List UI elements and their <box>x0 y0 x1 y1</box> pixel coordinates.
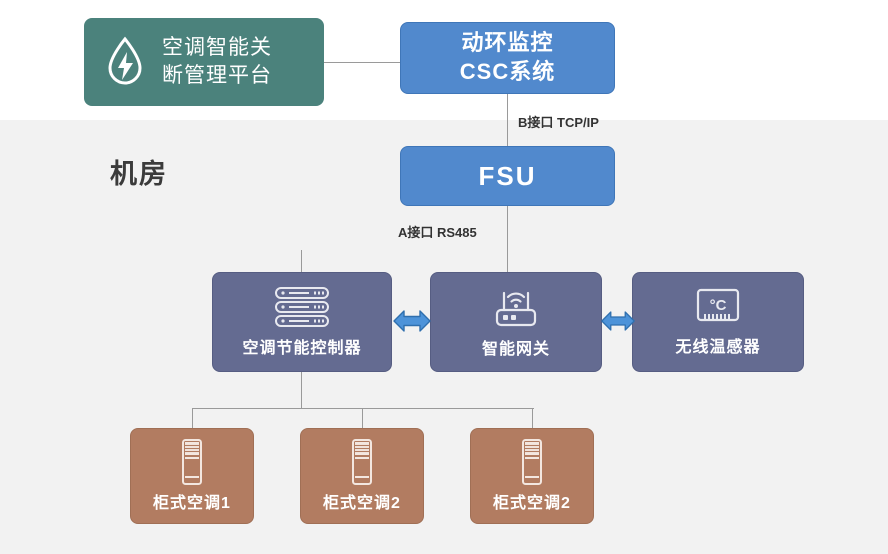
node-cabinet-ac-1[interactable]: 柜式空调1 <box>130 428 254 524</box>
edge-drop-ac2 <box>362 408 363 428</box>
node-fsu[interactable]: FSU <box>400 146 615 206</box>
edge-label-a-interface: A接口 RS485 <box>398 222 477 241</box>
edge-drop-ac3 <box>532 408 533 428</box>
wifi-router-icon <box>489 284 543 330</box>
node-label-sensor: 无线温感器 <box>675 338 760 358</box>
node-label-platform: 空调智能关 断管理平台 <box>162 34 272 91</box>
node-cabinet-ac-2[interactable]: 柜式空调2 <box>300 428 424 524</box>
node-label-ac-2: 柜式空调2 <box>323 494 401 514</box>
bidirectional-arrow-gateway-sensor <box>600 305 636 342</box>
node-label-csc: 动环监控 CSC系统 <box>460 29 555 86</box>
node-label-controller: 空调节能控制器 <box>242 339 361 359</box>
cabinet-air-conditioner-icon <box>175 438 209 488</box>
node-cabinet-ac-3[interactable]: 柜式空调2 <box>470 428 594 524</box>
node-label-fsu: FSU <box>479 160 537 193</box>
temperature-display-icon: °C <box>692 286 744 328</box>
diagram-canvas: 机房 B接口 TCP/IP A接口 RS485 空调智能关 <box>0 0 888 554</box>
cabinet-air-conditioner-icon <box>515 438 549 488</box>
cabinet-air-conditioner-icon <box>345 438 379 488</box>
water-drop-lightning-icon <box>102 34 148 90</box>
node-label-ac-3: 柜式空调2 <box>493 494 571 514</box>
platform-line1: 空调智能关 <box>162 36 272 59</box>
edge-ac-busbar <box>192 408 534 409</box>
equipment-room-label: 机房 <box>110 152 168 191</box>
edge-controller-trunk <box>301 372 302 408</box>
node-ac-smart-switch-platform[interactable]: 空调智能关 断管理平台 <box>84 18 324 106</box>
csc-line2: CSC系统 <box>460 59 555 84</box>
server-rack-icon <box>272 285 332 329</box>
svg-text:°C: °C <box>710 297 727 314</box>
bidirectional-arrow-controller-gateway <box>392 305 432 342</box>
node-csc-system[interactable]: 动环监控 CSC系统 <box>400 22 615 94</box>
node-label-gateway: 智能网关 <box>482 340 550 360</box>
node-wireless-temperature-sensor[interactable]: °C 无线温感器 <box>632 272 804 372</box>
node-ac-energy-saving-controller[interactable]: 空调节能控制器 <box>212 272 392 372</box>
edge-label-b-interface: B接口 TCP/IP <box>518 112 599 131</box>
node-label-ac-1: 柜式空调1 <box>153 494 231 514</box>
edge-drop-ac1 <box>192 408 193 428</box>
edge-fsu-to-gateway <box>507 206 508 272</box>
edge-csc-to-fsu <box>507 94 508 146</box>
edge-stub-controller-top <box>301 250 302 272</box>
platform-line2: 断管理平台 <box>162 64 272 87</box>
node-smart-gateway[interactable]: 智能网关 <box>430 272 602 372</box>
edge-platform-to-csc <box>324 62 400 63</box>
csc-line1: 动环监控 <box>461 30 553 55</box>
